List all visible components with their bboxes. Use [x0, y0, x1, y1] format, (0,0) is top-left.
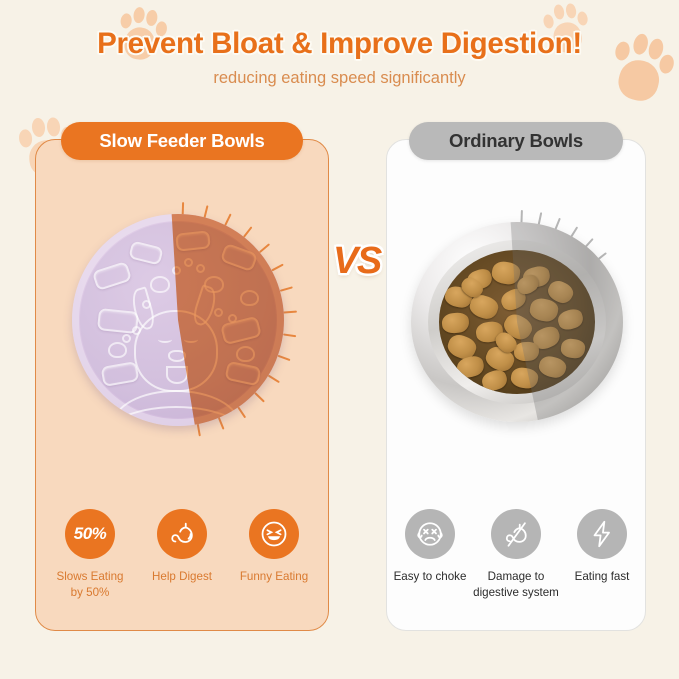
percent-50-label: 50% — [74, 524, 107, 544]
slow-feeder-bowl — [72, 214, 284, 426]
drawback-easy-to-choke: Easy to choke — [387, 509, 473, 584]
benefit-label-line1: Slows Eating — [56, 570, 123, 583]
drawback-label-line1: Damage to — [488, 570, 545, 583]
drawback-label-line2: digestive system — [473, 586, 559, 599]
benefit-slows-eating-label: Slows Eating by 50% — [44, 569, 136, 600]
ordinary-bowl-card: Ordinary Bowls — [386, 139, 646, 631]
slow-feeder-card: Slow Feeder Bowls — [35, 139, 329, 631]
ordinary-bowl-image — [397, 192, 637, 462]
stomach-icon — [157, 509, 207, 559]
drawback-digestive-damage: Damage to digestive system — [473, 509, 559, 600]
drawback-eating-fast-label: Eating fast — [559, 569, 645, 584]
stomach-crossed-out-icon — [491, 509, 541, 559]
benefit-help-digest-label: Help Digest — [136, 569, 228, 584]
happy-face-icon — [249, 509, 299, 559]
page-subtitle: reducing eating speed significantly — [0, 69, 679, 88]
benefit-funny-eating-label: Funny Eating — [228, 569, 320, 584]
drawback-eating-fast: Eating fast — [559, 509, 645, 584]
benefit-label-line2: by 50% — [71, 586, 110, 599]
choking-face-icon — [405, 509, 455, 559]
slow-feeder-benefits: 50% Slows Eating by 50% Help Digest — [36, 509, 328, 600]
percent-50-icon: 50% — [65, 509, 115, 559]
ordinary-bowl-drawbacks: Easy to choke Damage to digestive system — [387, 509, 645, 600]
drawback-easy-to-choke-label: Easy to choke — [387, 569, 473, 584]
slow-feeder-title-pill: Slow Feeder Bowls — [61, 122, 303, 160]
header: Prevent Bloat & Improve Digestion! reduc… — [0, 28, 679, 88]
lightning-bolt-icon — [577, 509, 627, 559]
page-title: Prevent Bloat & Improve Digestion! — [0, 28, 679, 60]
benefit-funny-eating: Funny Eating — [228, 509, 320, 584]
ordinary-bowl-area — [387, 192, 645, 482]
drawback-digestive-damage-label: Damage to digestive system — [473, 569, 559, 600]
vs-badge: VS — [333, 240, 381, 283]
benefit-slows-eating: 50% Slows Eating by 50% — [44, 509, 136, 600]
slow-feeder-bowl-image — [52, 192, 314, 462]
benefit-help-digest: Help Digest — [136, 509, 228, 584]
ordinary-bowl-title-pill: Ordinary Bowls — [409, 122, 623, 160]
slow-feeder-bowl-area — [36, 192, 328, 482]
stainless-steel-bowl — [411, 222, 623, 422]
infographic-page: Prevent Bloat & Improve Digestion! reduc… — [0, 0, 679, 679]
